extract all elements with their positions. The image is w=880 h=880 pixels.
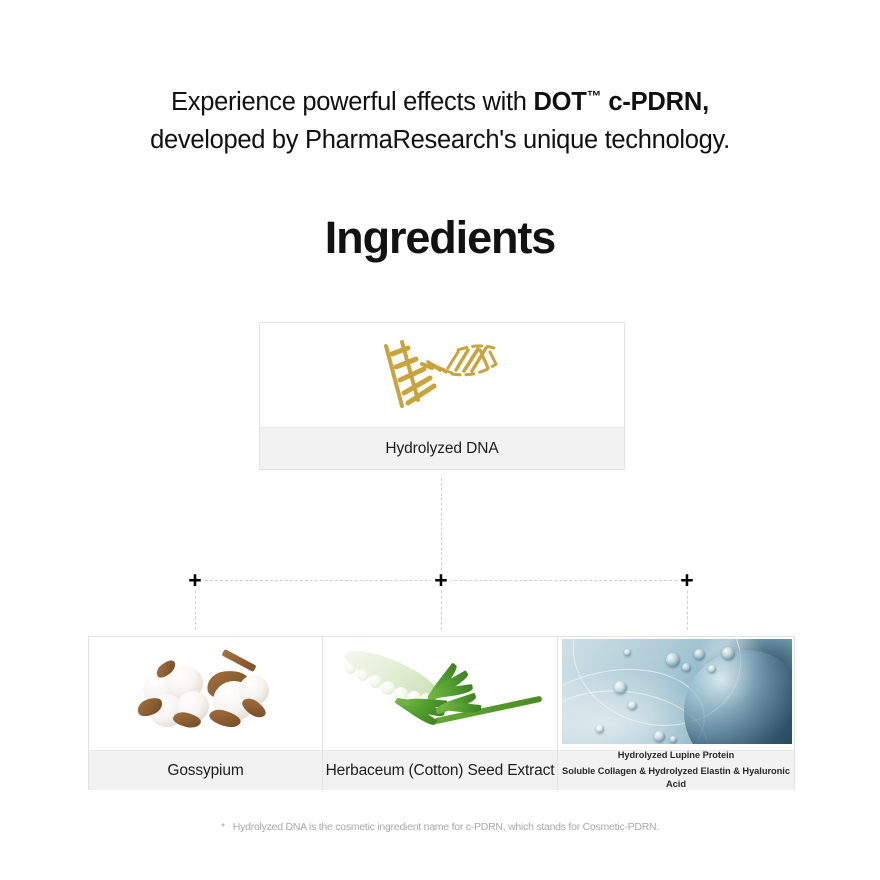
- card-label-herbaceum: Herbaceum (Cotton) Seed Extract: [323, 750, 557, 790]
- flower-floret: [345, 663, 356, 674]
- cotton-boll-image: [89, 637, 322, 750]
- footnote: *Hydrolyzed DNA is the cosmetic ingredie…: [0, 821, 880, 833]
- water-droplets-image: [562, 639, 792, 744]
- water-droplet: [596, 725, 604, 733]
- water-droplet: [624, 649, 631, 656]
- water-droplet: [694, 649, 705, 660]
- card-label-text: Herbaceum (Cotton) Seed Extract: [326, 762, 555, 780]
- water-droplet: [614, 681, 627, 694]
- plus-icon-center: +: [431, 570, 451, 590]
- flower-floret: [369, 675, 382, 688]
- flower-floret: [381, 681, 395, 695]
- connector-drop-right: [687, 580, 688, 630]
- cotton-stem: [221, 649, 256, 672]
- brand-name: DOT: [533, 88, 586, 116]
- page-title: Ingredients: [0, 212, 880, 264]
- plus-icon-right: +: [677, 570, 697, 590]
- ingredient-card-herbaceum[interactable]: Herbaceum (Cotton) Seed Extract: [323, 636, 558, 790]
- brand-suffix: c-PDRN,: [601, 88, 709, 116]
- footnote-text: Hydrolyzed DNA is the cosmetic ingredien…: [233, 821, 659, 833]
- headline-line-1: Experience powerful effects with DOT™ c-…: [0, 78, 880, 121]
- connector-bus: [195, 580, 687, 581]
- lupine-plant-image: [323, 637, 557, 750]
- ingredients-page: Experience powerful effects with DOT™ c-…: [0, 0, 880, 880]
- card-media-dna: [260, 323, 624, 427]
- card-label-text-line2: Soluble Collagen & Hydrolyzed Elastin & …: [562, 765, 790, 792]
- water-droplet: [654, 731, 665, 742]
- dna-helix-icon: [372, 334, 512, 416]
- headline-prefix: Experience powerful effects with: [171, 88, 533, 116]
- water-droplet: [708, 665, 716, 673]
- card-media-herbaceum: [323, 637, 557, 750]
- water-droplet: [682, 663, 691, 672]
- card-label-gossypium: Gossypium: [89, 750, 322, 790]
- plant-leaf: [441, 701, 482, 714]
- ingredient-card-gossypium[interactable]: Gossypium: [88, 636, 323, 790]
- connector-drop-left: [195, 580, 196, 630]
- ingredient-card-hydrolyzed-dna[interactable]: Hydrolyzed DNA: [259, 322, 625, 470]
- water-droplet: [666, 653, 680, 667]
- flower-floret: [357, 669, 369, 681]
- card-label-text: Hydrolyzed DNA: [385, 440, 498, 458]
- card-label-lupine-protein: Hydrolyzed Lupine Protein Soluble Collag…: [558, 750, 794, 790]
- card-media-gossypium: [89, 637, 322, 750]
- water-droplet: [628, 701, 637, 710]
- connector-stem-center-top: [441, 478, 442, 580]
- connector-drop-center: [441, 580, 442, 630]
- ingredient-card-lupine-protein[interactable]: Hydrolyzed Lupine Protein Soluble Collag…: [558, 636, 795, 790]
- page-headline: Experience powerful effects with DOT™ c-…: [0, 78, 880, 159]
- headline-line-2: developed by PharmaResearch's unique tec…: [0, 121, 880, 159]
- plus-icon-left: +: [185, 570, 205, 590]
- footnote-marker: *: [221, 821, 225, 833]
- water-droplet: [670, 736, 677, 743]
- card-label-hydrolyzed-dna: Hydrolyzed DNA: [260, 427, 624, 469]
- card-media-lupine: [558, 637, 794, 750]
- card-label-text-line1: Hydrolyzed Lupine Protein: [618, 749, 735, 762]
- trademark-icon: ™: [587, 89, 602, 105]
- water-droplet: [722, 647, 735, 660]
- card-label-text: Gossypium: [167, 762, 243, 780]
